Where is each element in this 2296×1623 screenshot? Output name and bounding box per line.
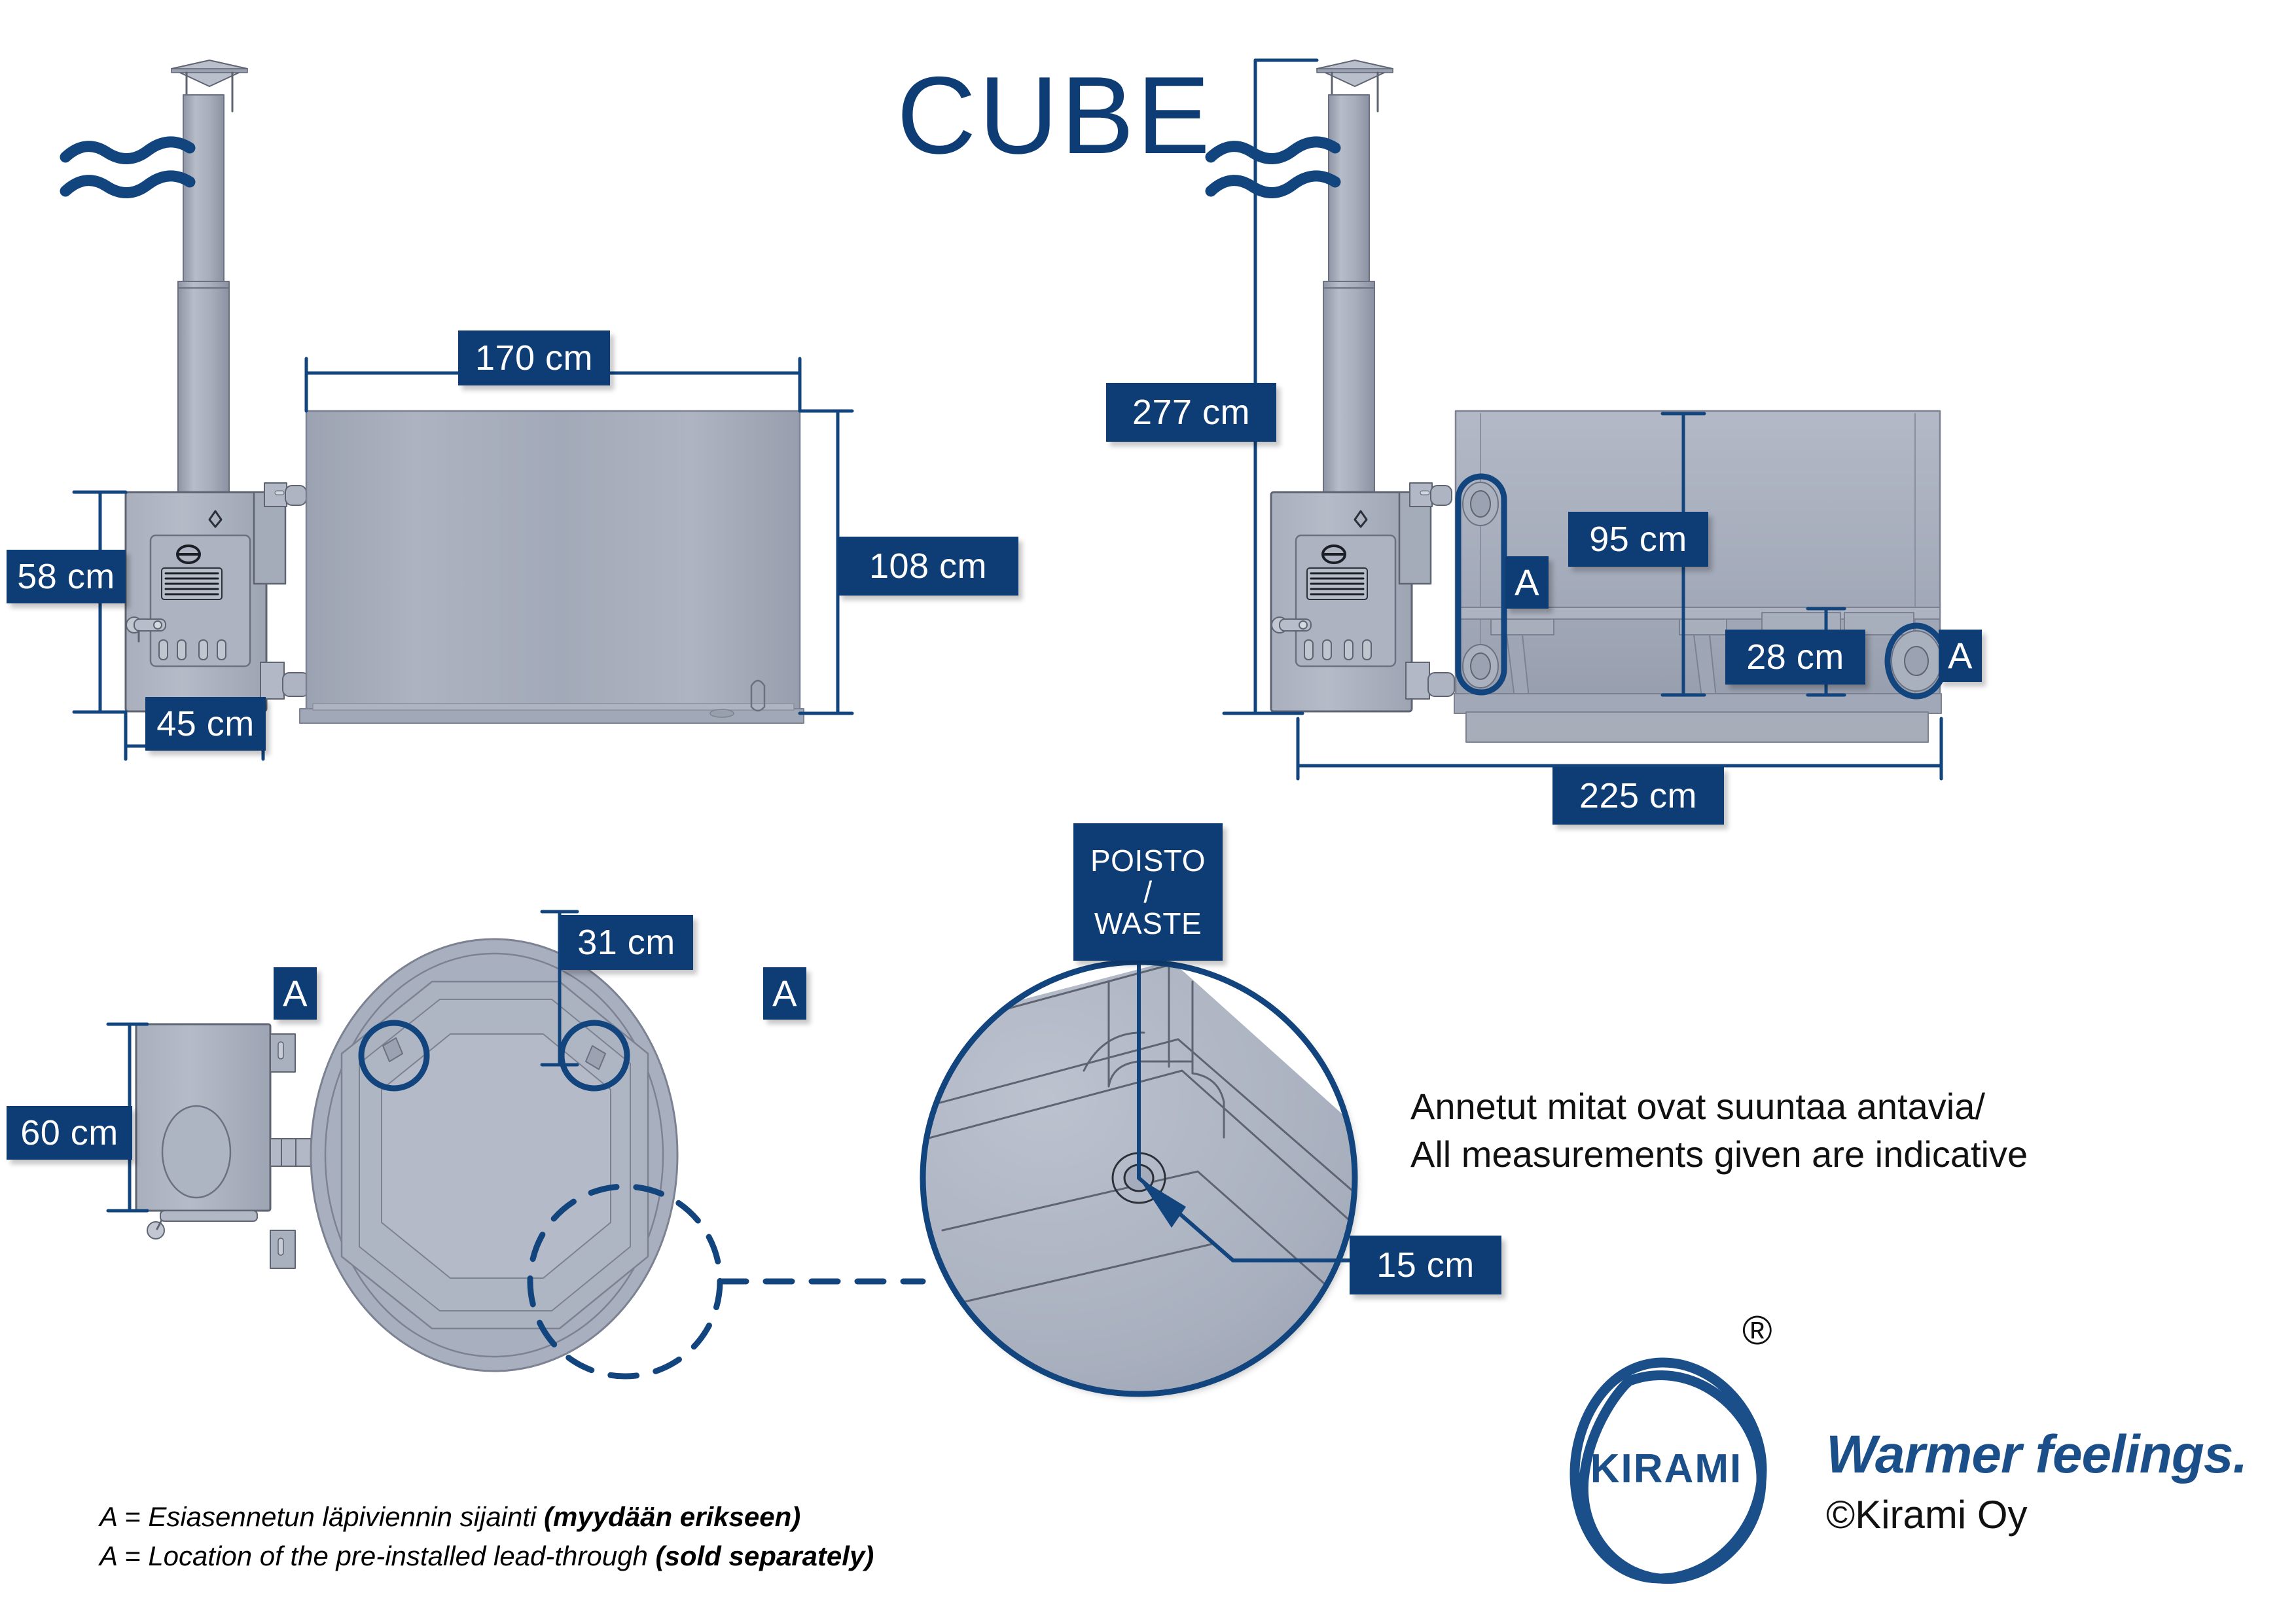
page-title: CUBE xyxy=(897,52,1213,179)
dimension-badge-height-108: 108 cm xyxy=(838,537,1018,596)
marker-badge-lead-through-upper: A xyxy=(1505,556,1549,609)
detail-circle-geometry xyxy=(864,955,1384,1414)
legend-fi-bold: (myydään erikseen) xyxy=(544,1501,800,1532)
marker-badge-lead-through-right: A xyxy=(763,967,806,1020)
kirami-logo-word: KIRAMI xyxy=(1590,1446,1742,1491)
legend-en-bold: (sold separately) xyxy=(656,1541,874,1571)
kirami-logo-mark: KIRAMI xyxy=(1551,1322,1813,1597)
dimension-badge-stove-depth-45: 45 cm xyxy=(145,697,266,751)
drawing-geometry xyxy=(0,0,2296,1623)
dimension-badge-seat-width-31: 31 cm xyxy=(560,915,693,970)
legend-fi-prefix: A = Esiasennetun läpiviennin sijainti xyxy=(99,1501,544,1532)
legend-en-prefix: A = Location of the pre-installed lead-t… xyxy=(99,1541,656,1571)
legend-line-finnish: A = Esiasennetun läpiviennin sijainti (m… xyxy=(99,1497,800,1537)
kirami-logo: KIRAMI ® xyxy=(1551,1322,1813,1597)
dimension-badge-stove-height-58: 58 cm xyxy=(7,550,126,603)
legend-line-english: A = Location of the pre-installed lead-t… xyxy=(99,1537,874,1577)
dimension-badge-seat-height-28: 28 cm xyxy=(1725,630,1865,685)
dimension-badge-total-length-225: 225 cm xyxy=(1552,767,1724,825)
dimension-badge-inner-height-95: 95 cm xyxy=(1568,512,1708,567)
callout-badge-waste: POISTO / WASTE xyxy=(1073,823,1223,961)
note-measurements-indicative: Annetut mitat ovat suuntaa antavia/ All … xyxy=(1410,1083,2196,1179)
dimension-badge-total-height-277: 277 cm xyxy=(1106,383,1276,442)
marker-badge-lead-through-left: A xyxy=(274,967,317,1020)
technical-drawing-page: CUBE 170 cm 108 cm 58 cm 45 cm 277 cm 95… xyxy=(0,0,2296,1623)
marker-badge-lead-through-lower: A xyxy=(1939,630,1982,682)
dimension-badge-width-170: 170 cm xyxy=(458,330,610,385)
brand-tagline: Warmer feelings. xyxy=(1826,1424,2247,1486)
registered-trademark-icon: ® xyxy=(1742,1308,1772,1354)
front-elevation-geometry xyxy=(65,60,804,723)
copyright-line: ©Kirami Oy xyxy=(1826,1492,2028,1537)
dimension-badge-stove-width-60: 60 cm xyxy=(7,1106,132,1160)
dimension-badge-drain-15: 15 cm xyxy=(1350,1236,1501,1294)
